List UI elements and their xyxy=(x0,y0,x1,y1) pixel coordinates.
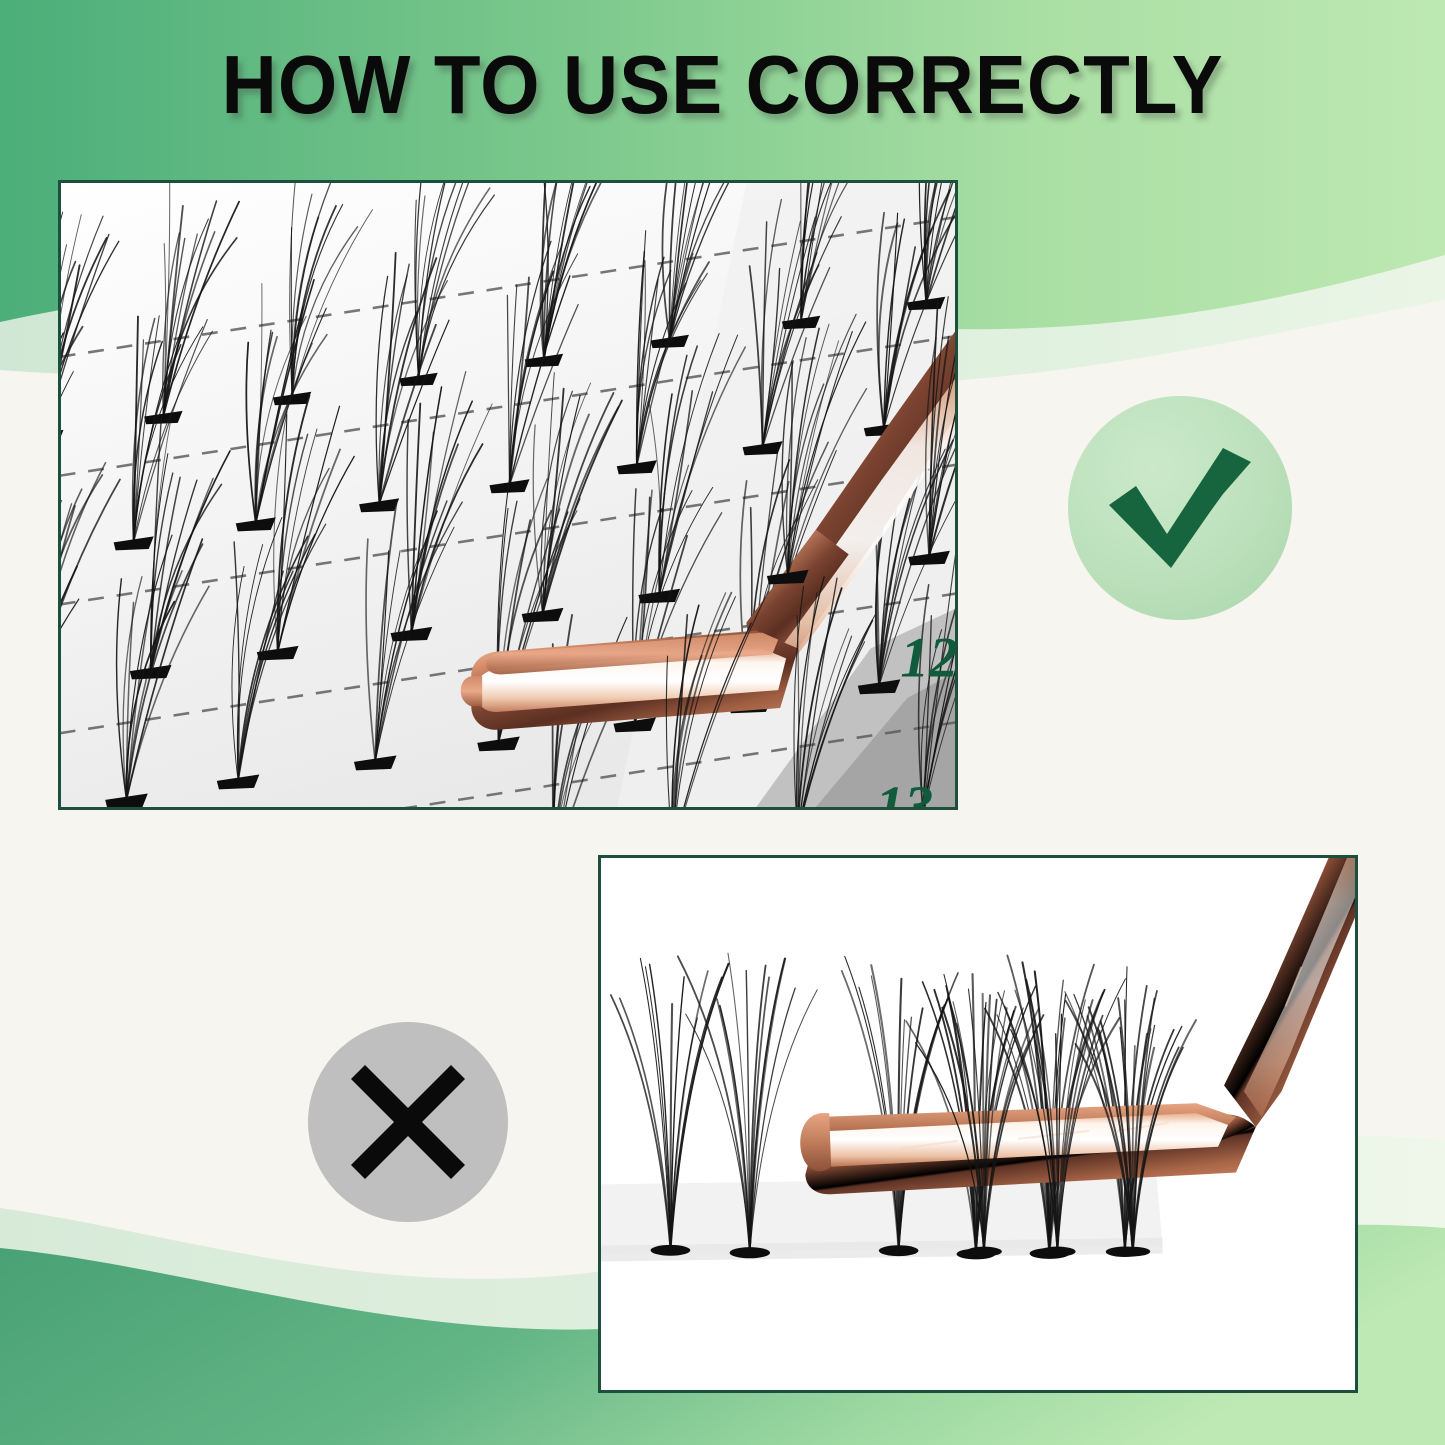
incorrect-usage-photo: Tweezer grasping lash fans at the tips xyxy=(598,855,1358,1393)
incorrect-badge: Incorrect xyxy=(308,1022,508,1222)
infographic-canvas: HOW TO USE CORRECTLY Tweezer grasping la… xyxy=(0,0,1445,1445)
page-title-text: HOW TO USE CORRECTLY xyxy=(221,44,1223,125)
correct-photo-image: 12 13 13 xyxy=(61,183,955,807)
check-icon xyxy=(1105,442,1255,574)
cross-icon xyxy=(347,1061,469,1183)
tray-number-1: 13 xyxy=(876,775,934,807)
tray-number-0: 12 xyxy=(900,626,955,689)
correct-badge: Correct xyxy=(1068,396,1292,620)
incorrect-photo-image xyxy=(601,858,1355,1390)
correct-usage-photo: Tweezer grasping lash fans at the base o… xyxy=(58,180,958,810)
page-title: HOW TO USE CORRECTLY xyxy=(0,44,1445,125)
